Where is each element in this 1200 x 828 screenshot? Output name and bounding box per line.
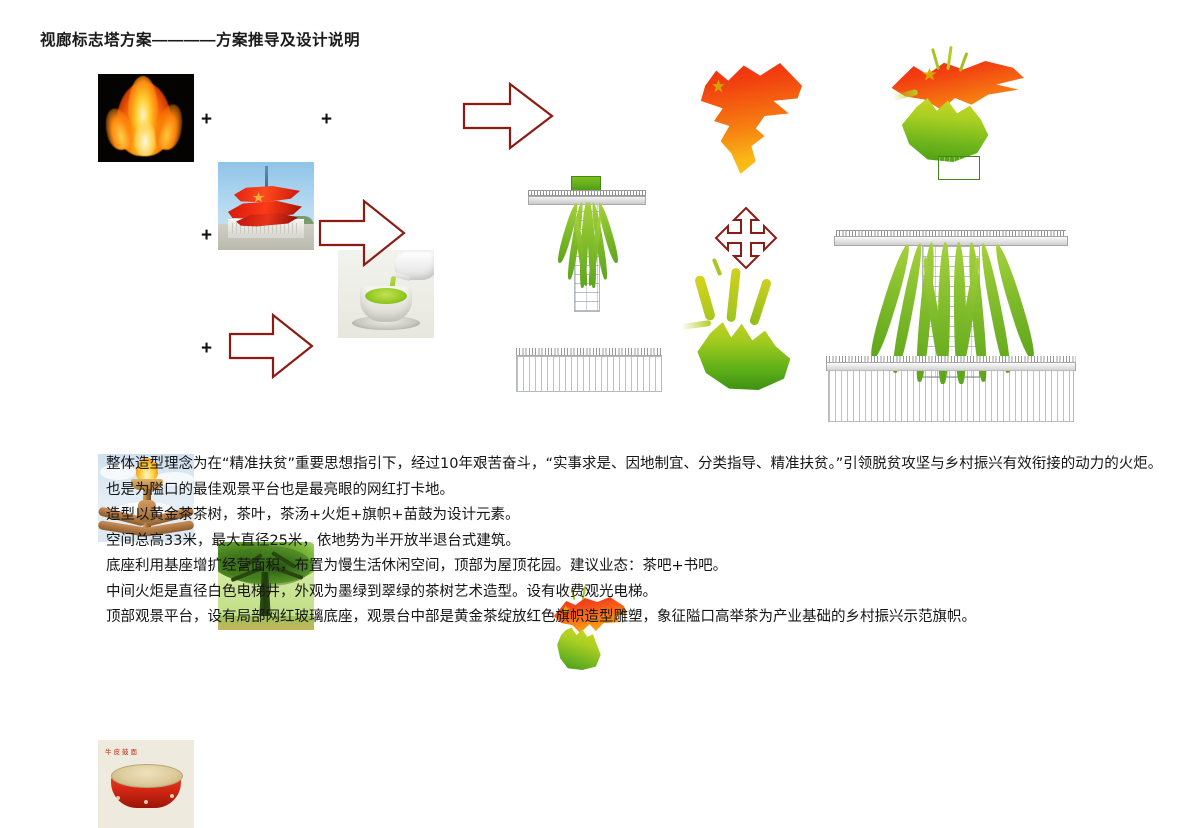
arrow-four-directions-icon [714,206,778,275]
red-flag-monument-photo [218,162,314,250]
observation-deck-slab [834,236,1068,246]
tea-splash-shape [686,268,806,390]
arrow-right-icon-1 [462,80,554,152]
render-podium-body [828,370,1074,422]
description-paragraph-1: 整体造型理念为在“精准扶贫”重要思想指引下，经过10年艰苦奋斗，“实事求是、因地… [106,452,1166,503]
description-paragraph-3: 空间总高33米，最大直径25米，依地势为半开放半退台式建筑。 [106,529,1166,555]
massing-podium [516,348,662,392]
description-paragraph-6: 顶部观景平台，设有局部网红玻璃底座，观景台中部是黄金茶绽放红色旗帜造型雕塑，象征… [106,605,1166,631]
arrow-right-icon-3 [228,312,314,380]
render-sculpture-base [938,156,980,180]
miao-drum-photo: 牛皮鼓面 [98,740,194,828]
plus-symbol: + [201,339,212,358]
arrow-right-icon-2 [318,198,406,268]
slide-canvas: 视廊标志塔方案————方案推导及设计说明 + + + [0,0,1200,675]
description-paragraph-4: 底座利用基座增扩经营面积，布置为慢生活休闲空间，顶部为屋顶花园。建议业态：茶吧+… [106,554,1166,580]
final-tower-rendering [826,56,1076,412]
plus-symbol: + [201,226,212,245]
flag-flame-shape [692,58,802,184]
massing-tower [528,176,646,312]
render-sculpture [878,56,1026,174]
drum-photo-label: 牛皮鼓面 [105,746,139,756]
plus-symbol: + [321,110,332,129]
description-paragraph-5: 中间火炬是直径白色电梯井，外观为墨绿到翠绿的茶树艺术造型。设有收费观光电梯。 [106,580,1166,606]
plus-symbol: + [201,110,212,129]
description-block: 整体造型理念为在“精准扶贫”重要思想指引下，经过10年艰苦奋斗，“实事求是、因地… [106,452,1166,631]
description-paragraph-2: 造型以黄金茶茶树，茶叶，茶汤+火炬+旗帜+苗鼓为设计元素。 [106,503,1166,529]
page-title: 视廊标志塔方案————方案推导及设计说明 [40,28,360,50]
fire-photo [98,74,194,162]
